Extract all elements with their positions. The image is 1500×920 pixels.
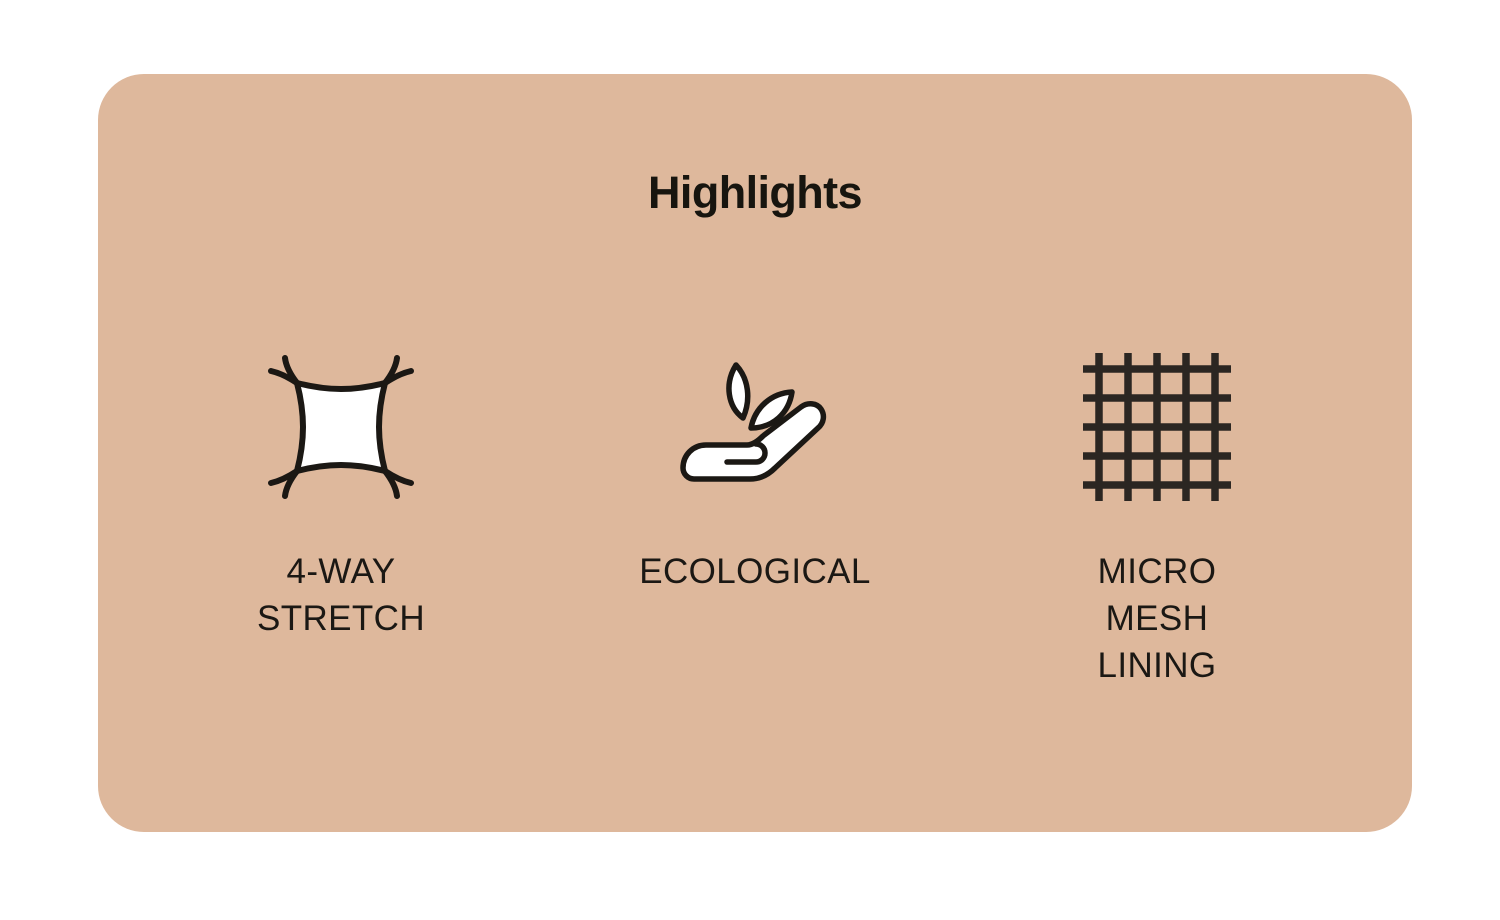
stretch-square-icon [266,332,416,522]
feature-label-ecological: ECOLOGICAL [639,548,871,595]
mesh-grid-icon [1077,332,1237,522]
feature-label-four-way-stretch: 4-WAY STRETCH [257,548,425,642]
features-row: 4-WAY STRETCH ECOLOGICAL [98,332,1412,689]
feature-four-way-stretch[interactable]: 4-WAY STRETCH [137,332,545,642]
feature-ecological[interactable]: ECOLOGICAL [551,332,959,595]
page-title: Highlights [98,170,1412,215]
feature-label-micro-mesh-lining: MICRO MESH LINING [1097,548,1216,689]
page-root: Highlights [0,0,1500,920]
hand-leaf-icon [675,332,835,522]
feature-micro-mesh-lining[interactable]: MICRO MESH LINING [953,332,1361,689]
highlights-card: Highlights [98,74,1412,832]
